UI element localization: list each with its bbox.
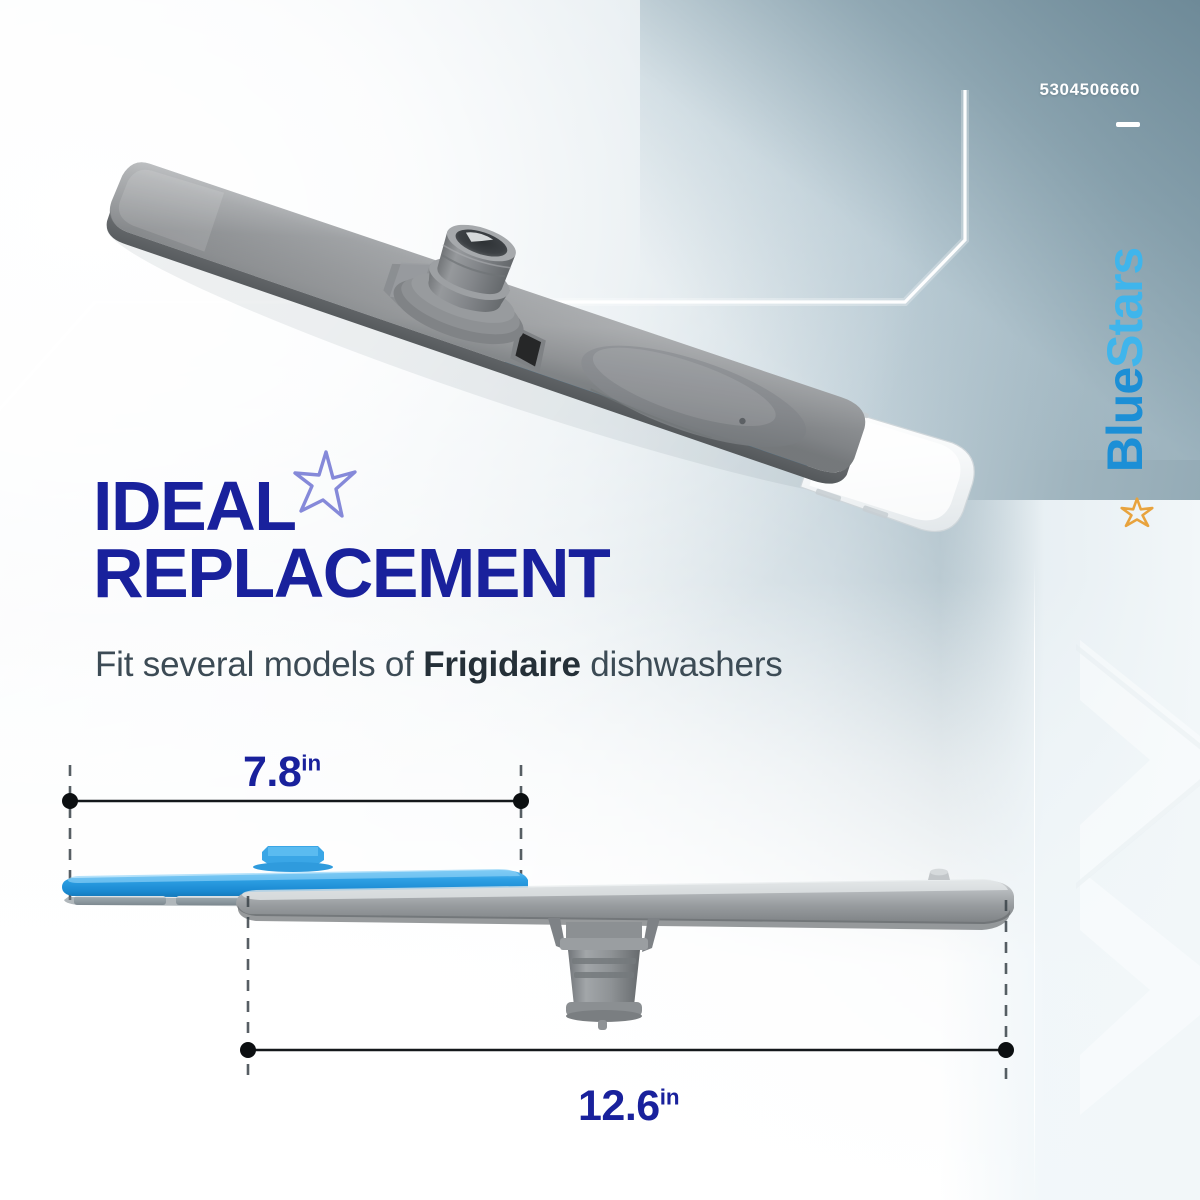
dimension-length-label: 12.6in xyxy=(578,1082,680,1131)
sku-underline-dash xyxy=(1116,122,1140,127)
headline-line-2: REPLACEMENT xyxy=(93,540,609,607)
star-sparkle-icon xyxy=(1120,497,1154,531)
subtitle: Fit several models of Frigidaire dishwas… xyxy=(95,645,783,685)
bluestars-wordmark: BlueStars xyxy=(1100,248,1150,472)
part-number-label: 5304506660 xyxy=(1039,80,1140,100)
dimension-width-label: 7.8in xyxy=(243,748,321,797)
brand-word-blue: Blue xyxy=(1100,368,1150,472)
dimension-length-value: 12.6 xyxy=(578,1082,660,1130)
dimension-length-unit: in xyxy=(660,1085,680,1110)
subtitle-suffix: dishwashers xyxy=(581,645,783,684)
subtitle-prefix: Fit several models of xyxy=(95,645,423,684)
page-title: IDEAL REPLACEMENT xyxy=(93,473,609,607)
infographic-canvas: 5304506660 BlueStars xyxy=(0,0,1200,1200)
brand-emphasis: Frigidaire xyxy=(423,645,580,684)
spray-arm-hub-shaft xyxy=(548,918,660,1030)
brand-word-stars: Stars xyxy=(1100,248,1150,368)
bluestars-logo: BlueStars xyxy=(1090,195,1160,525)
dimension-width-unit: in xyxy=(301,751,321,776)
dimension-width-value: 7.8 xyxy=(243,748,301,796)
